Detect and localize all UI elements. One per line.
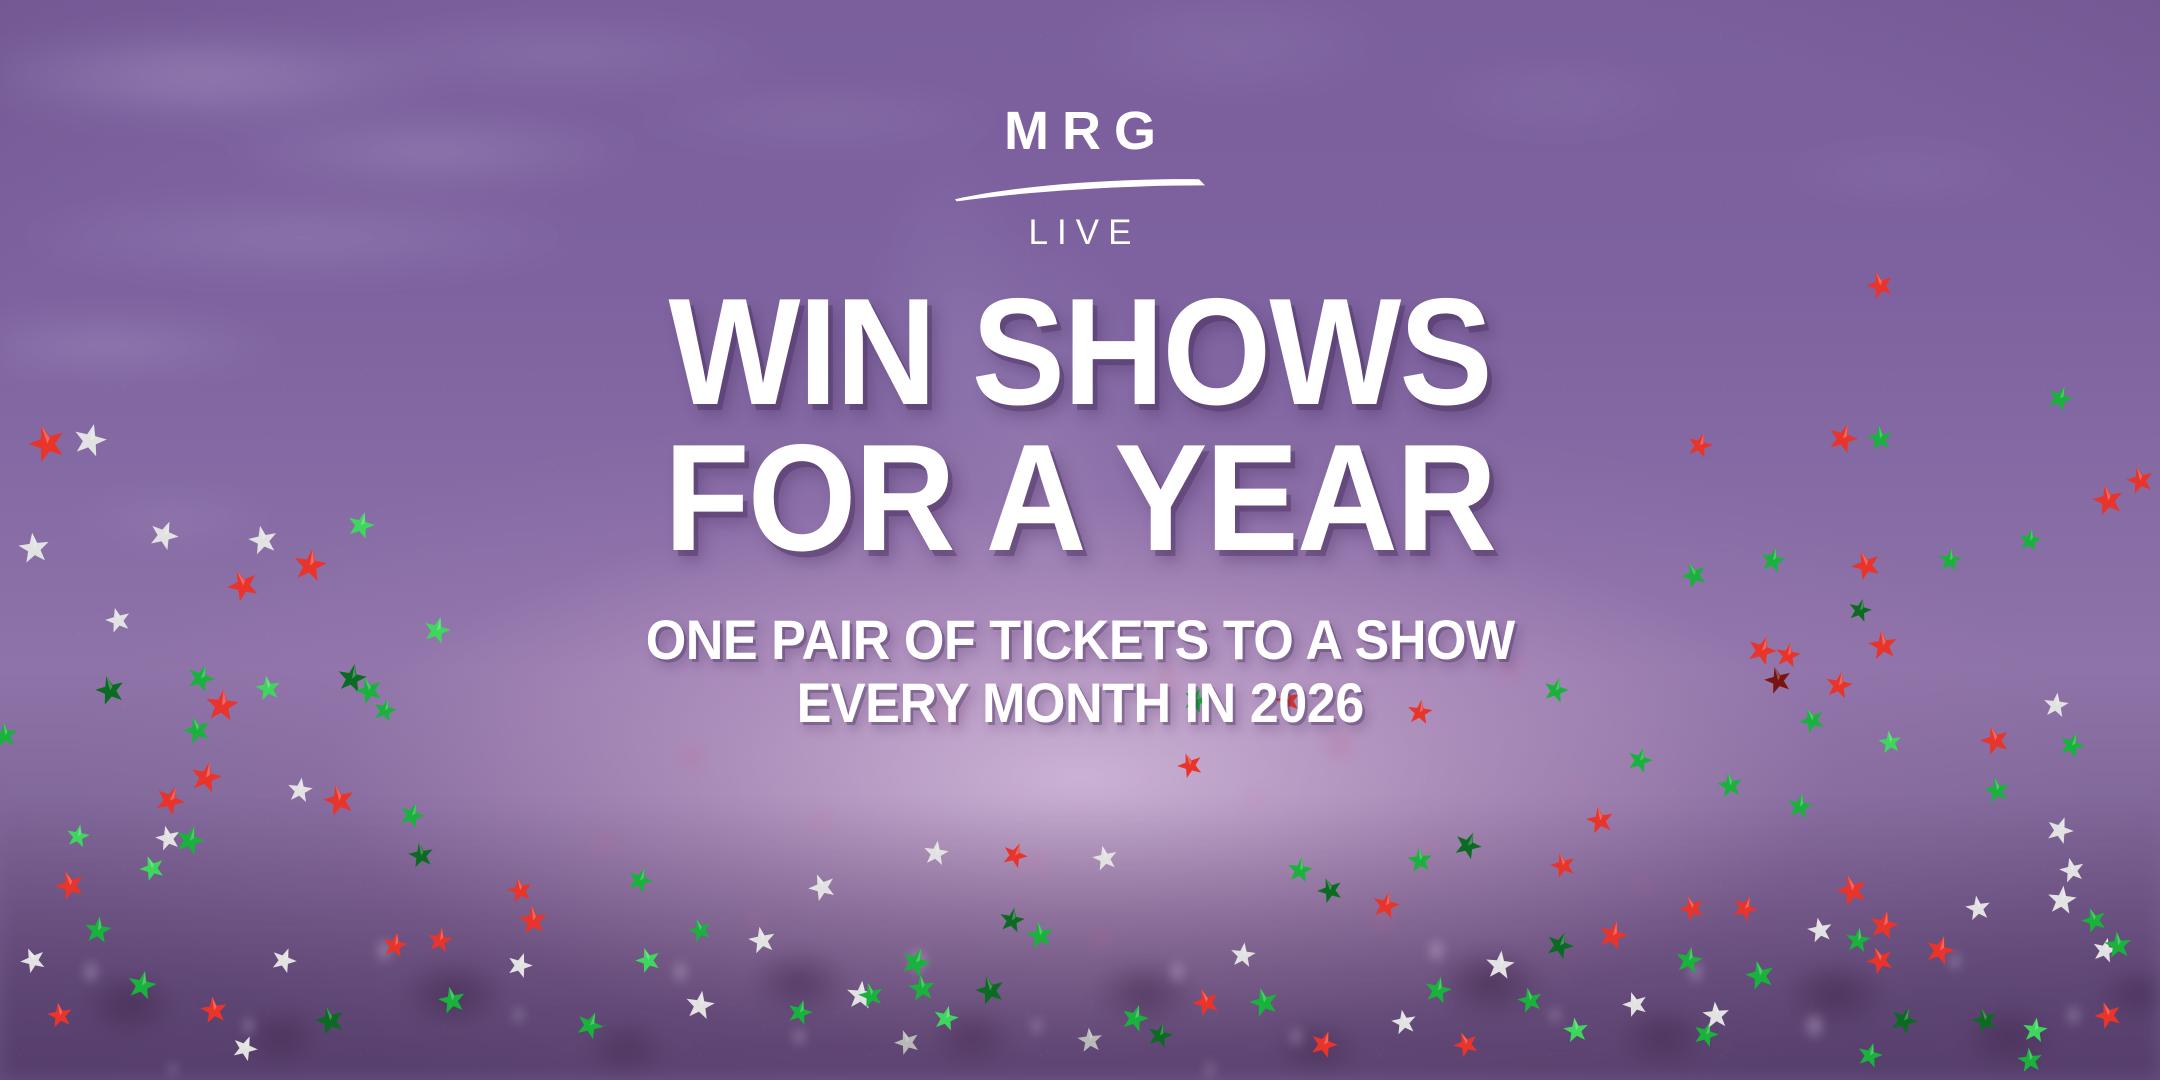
logo-wordmark: MRG bbox=[991, 104, 1169, 158]
promotional-banner: MRG LIVE WIN SHOWS FOR A YEAR ONE PAIR O… bbox=[0, 0, 2160, 1080]
subhead: ONE PAIR OF TICKETS TO A SHOW EVERY MONT… bbox=[613, 608, 1547, 735]
headline-line-2: FOR A YEAR bbox=[664, 426, 1495, 572]
banner-content: MRG LIVE WIN SHOWS FOR A YEAR ONE PAIR O… bbox=[0, 0, 2160, 1080]
headline-line-1: WIN SHOWS bbox=[664, 280, 1495, 426]
subhead-line-1: ONE PAIR OF TICKETS TO A SHOW bbox=[645, 608, 1514, 671]
logo-tagline: LIVE bbox=[1020, 215, 1141, 250]
subhead-line-2: EVERY MONTH IN 2026 bbox=[645, 671, 1514, 734]
swoosh-underline-icon bbox=[953, 176, 1207, 202]
mrg-live-logo: MRG LIVE bbox=[953, 104, 1207, 250]
headline: WIN SHOWS FOR A YEAR bbox=[628, 280, 1531, 572]
